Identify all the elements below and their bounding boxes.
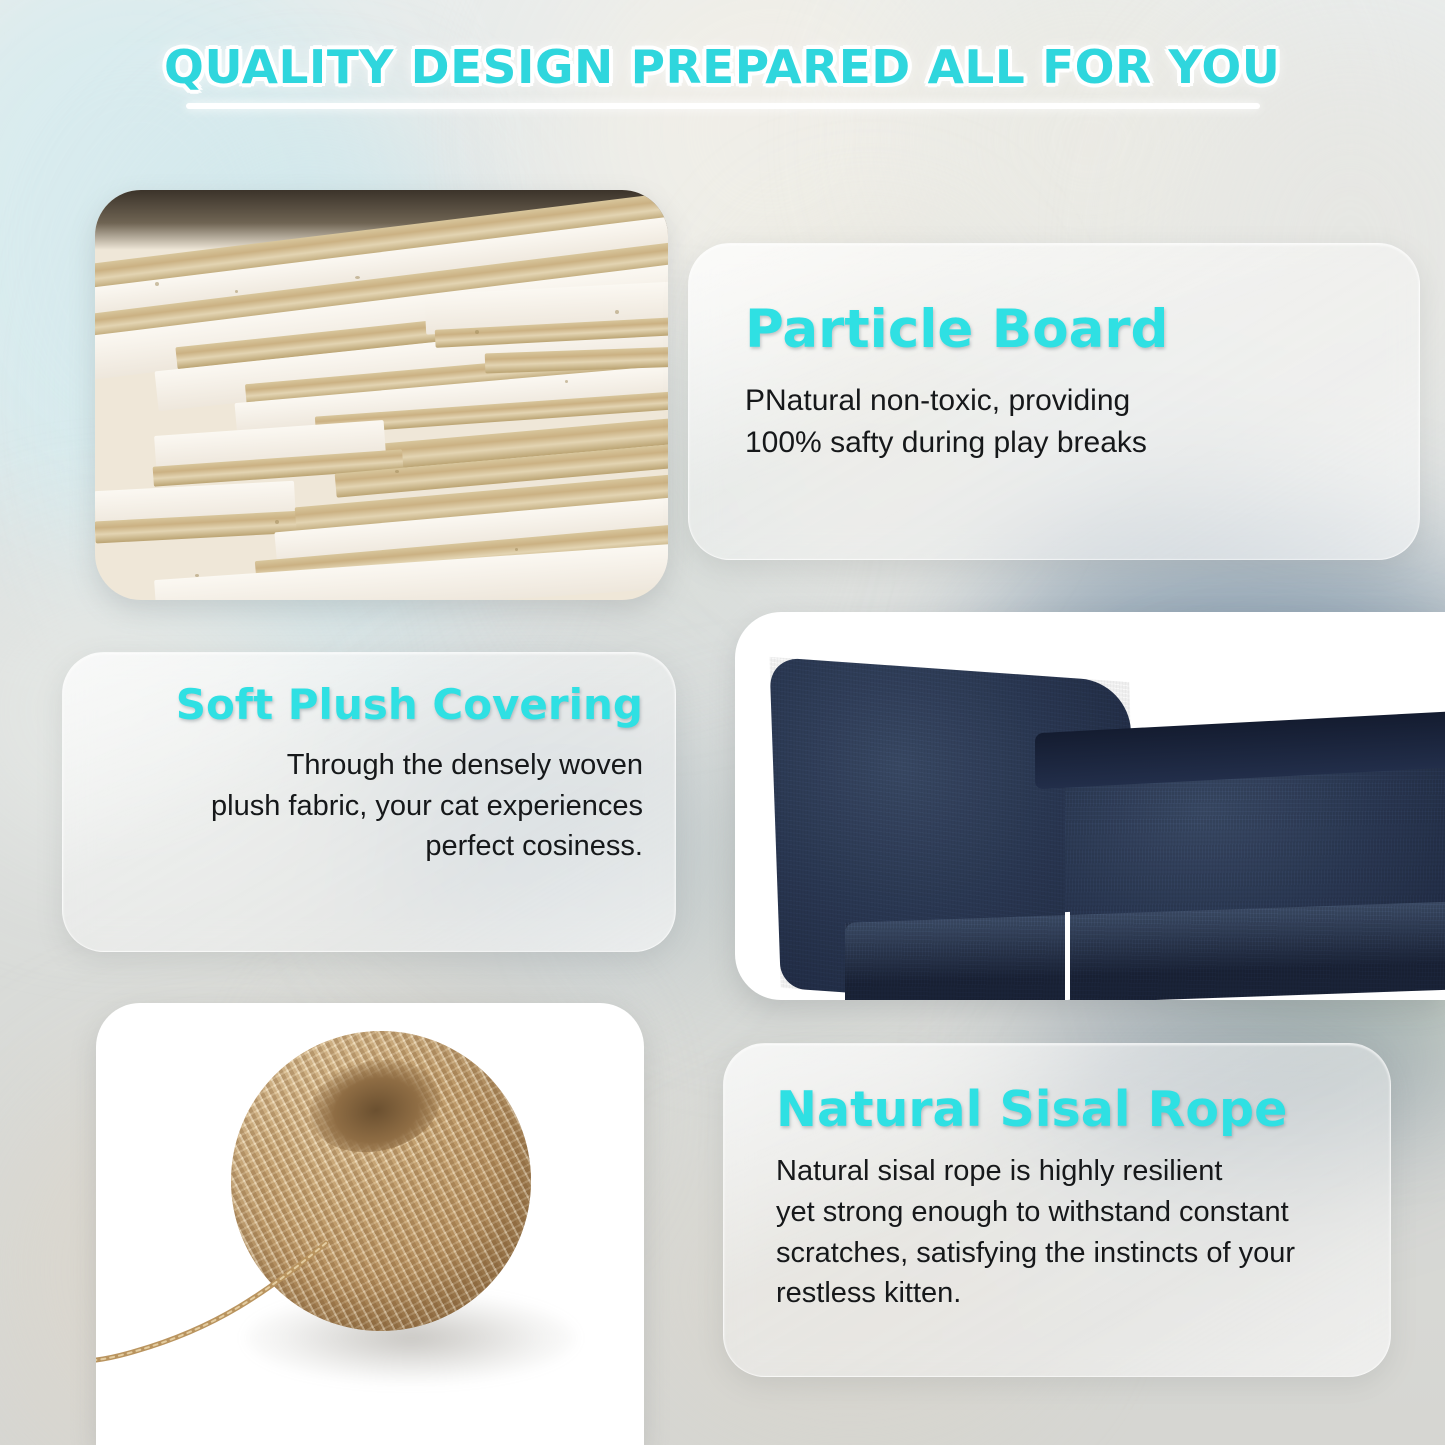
feature-card-natural-sisal-rope: Natural Sisal Rope Natural sisal rope is…: [723, 1043, 1391, 1377]
feature-card-soft-plush-covering: Soft Plush Covering Through the densely …: [62, 652, 676, 952]
page-title-text: QUALITY DESIGN PREPARED ALL FOR YOU: [164, 40, 1280, 94]
feature-body-line: plush fabric, your cat experiences: [211, 790, 643, 822]
feature-body-line: scratches, satisfying the instincts of y…: [776, 1237, 1295, 1269]
feature-body-line: restless kitten.: [776, 1277, 961, 1309]
feature-body-line: 100% safty during play breaks: [745, 426, 1147, 459]
feature-body-line: perfect cosiness.: [425, 830, 643, 862]
particle-board-photo: [95, 190, 668, 600]
feature-body-particle-board: PNatural non-toxic, providing 100% safty…: [745, 380, 1419, 465]
feature-body-soft-plush-covering: Through the densely woven plush fabric, …: [93, 745, 643, 867]
feature-body-line: PNatural non-toxic, providing: [745, 384, 1130, 417]
feature-title-particle-board: Particle Board: [745, 302, 1419, 358]
feature-card-particle-board: Particle Board PNatural non-toxic, provi…: [688, 243, 1420, 560]
feature-body-line: yet strong enough to withstand constant: [776, 1196, 1289, 1228]
infographic-canvas: QUALITY DESIGN PREPARED ALL FOR YOU: [0, 0, 1445, 1445]
feature-body-line: Natural sisal rope is highly resilient: [776, 1155, 1222, 1187]
feature-title-natural-sisal-rope: Natural Sisal Rope: [776, 1084, 1390, 1135]
feature-body-natural-sisal-rope: Natural sisal rope is highly resilient y…: [776, 1151, 1391, 1313]
navy-plush-photo: [735, 612, 1445, 1000]
feature-title-soft-plush-covering: Soft Plush Covering: [93, 683, 643, 727]
feature-body-line: Through the densely woven: [287, 749, 643, 781]
page-title: QUALITY DESIGN PREPARED ALL FOR YOU: [0, 40, 1445, 94]
title-underline: [186, 103, 1260, 109]
sisal-rope-photo: [96, 1003, 644, 1445]
rope-loose-end: [96, 1233, 396, 1383]
